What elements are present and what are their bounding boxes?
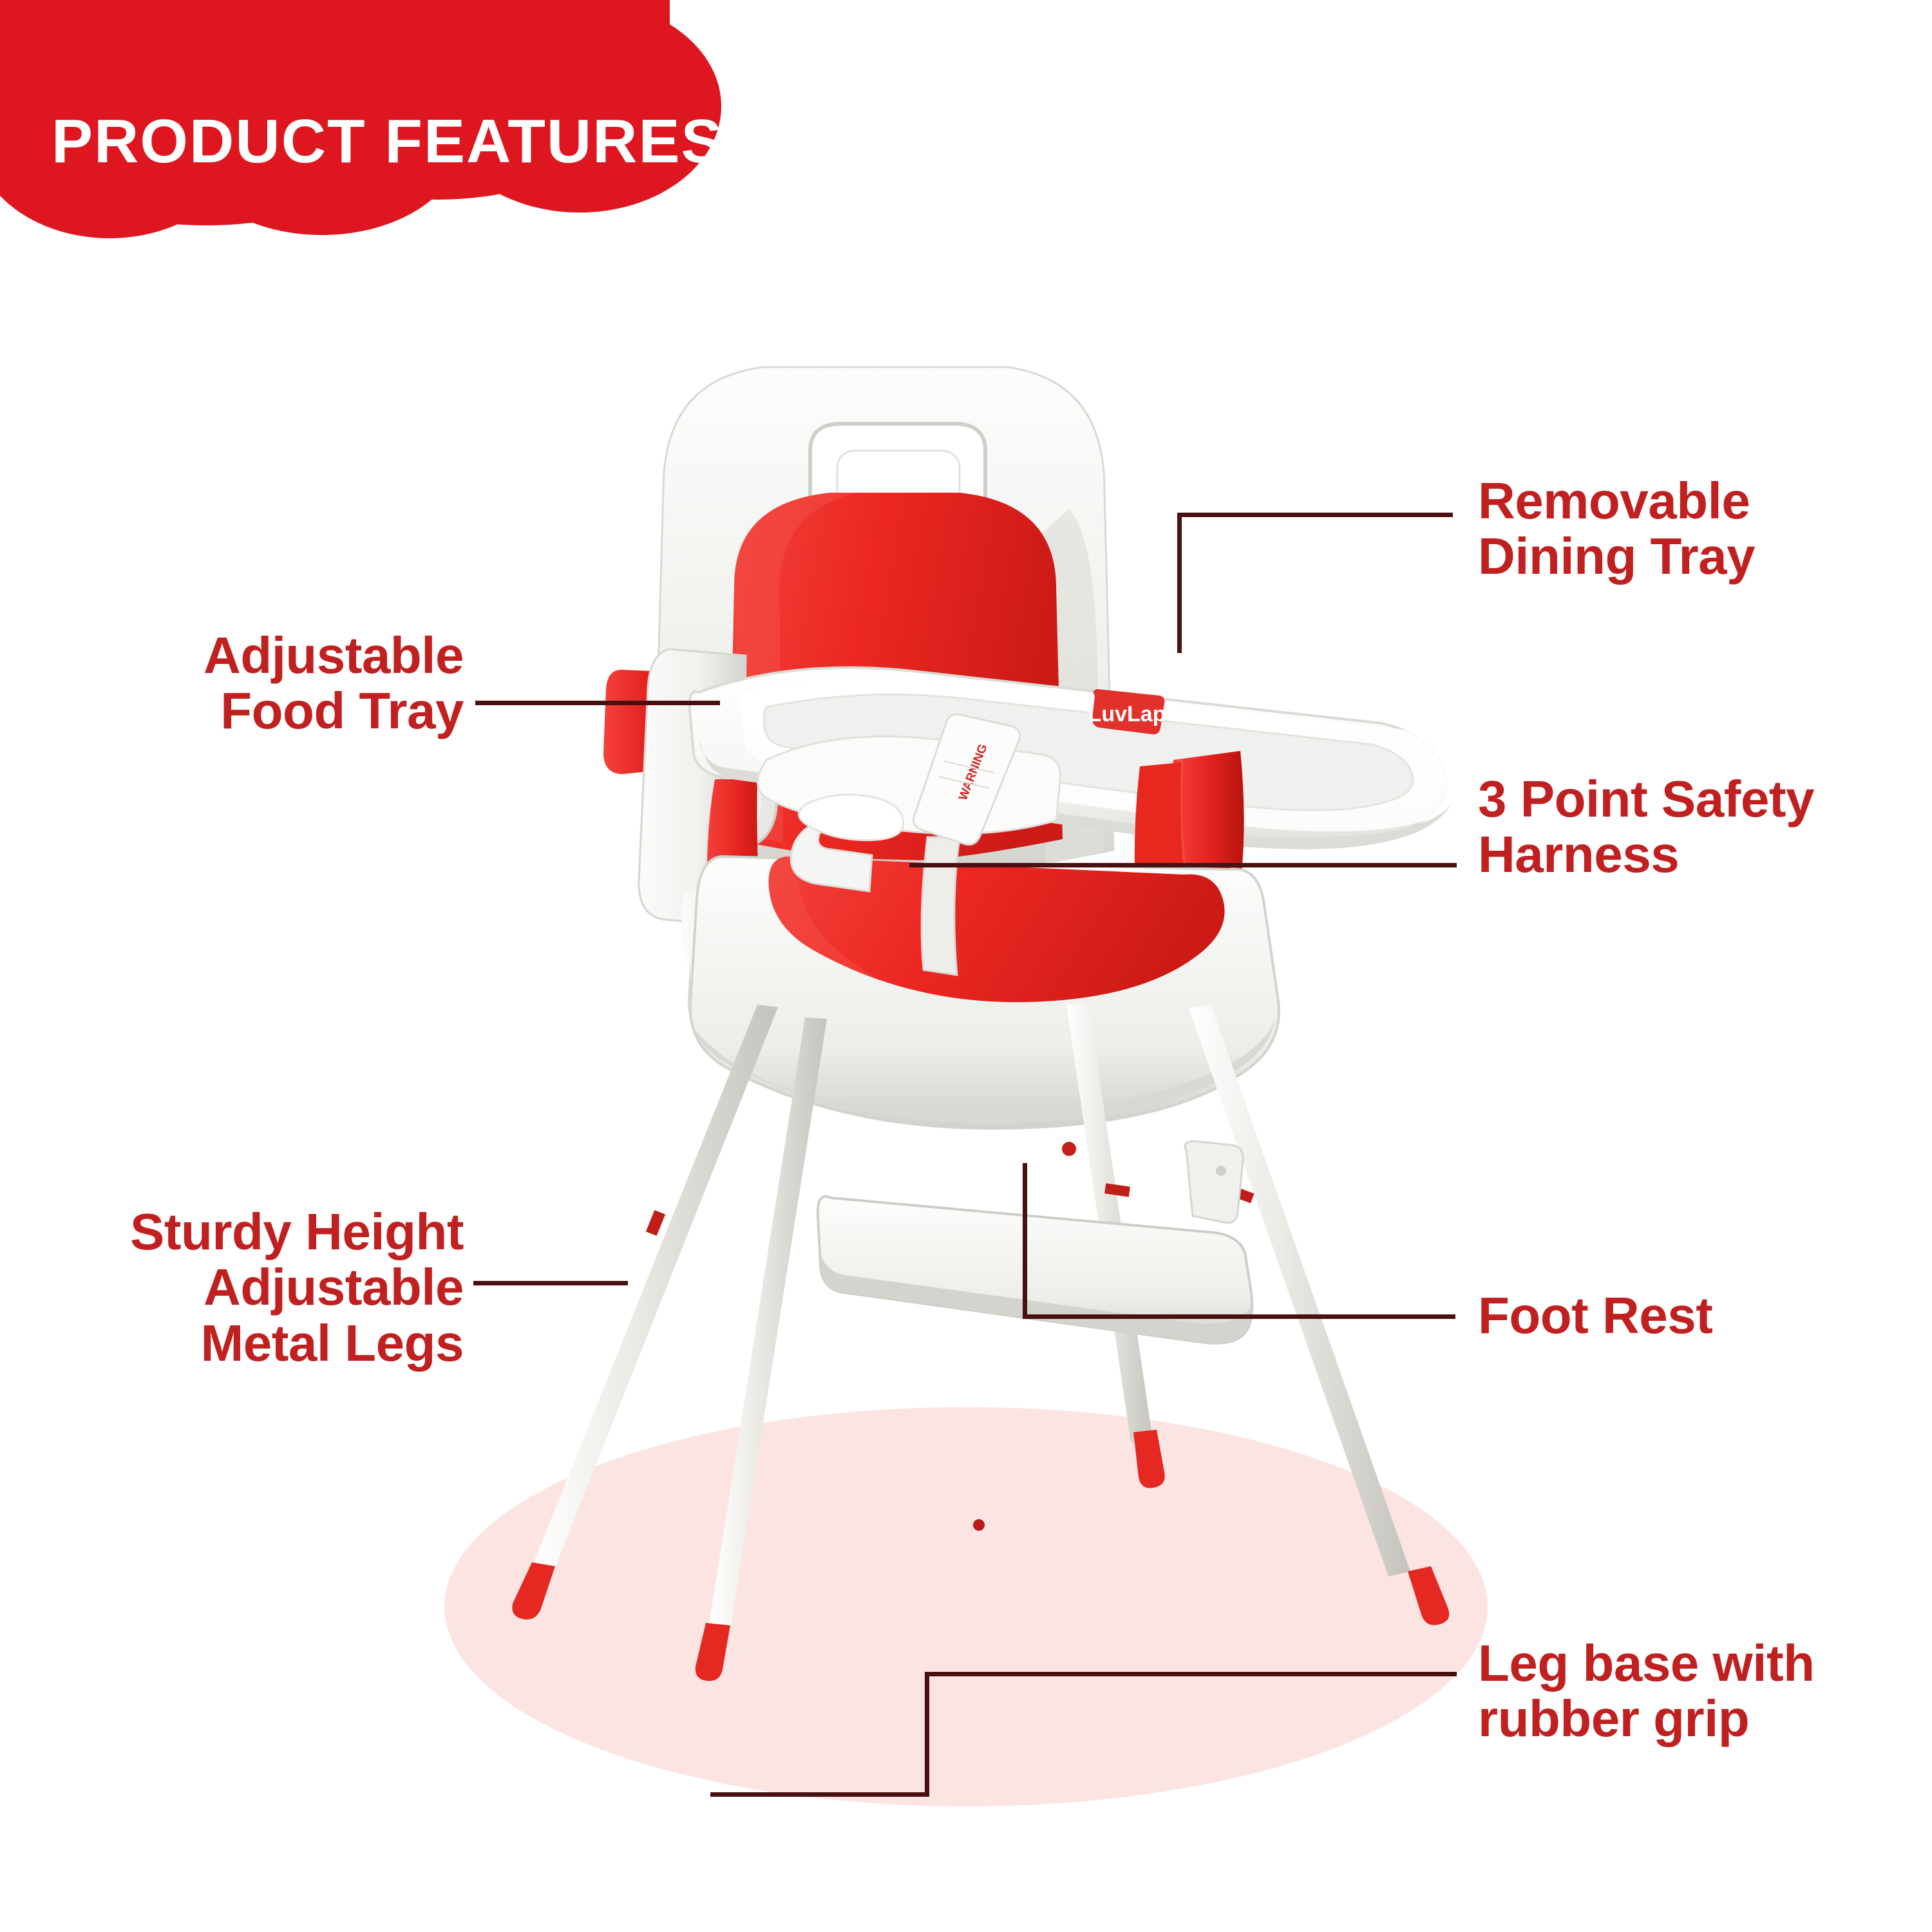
feature-label-sturdy-height-adjustable-metal-legs: Sturdy Height Adjustable Metal Legs xyxy=(52,1204,464,1371)
leader-line-removable-dining-tray xyxy=(1177,513,1453,517)
leader-line-adjustable-food-tray xyxy=(475,701,720,705)
leader-line-removable-dining-tray xyxy=(1177,513,1182,653)
leader-line-foot-rest xyxy=(1023,1314,1455,1319)
leader-line-three-point-safety-harness xyxy=(909,863,1457,867)
page-title: PRODUCT FEATURES xyxy=(52,106,724,177)
brand-badge: LuvLap xyxy=(1088,689,1166,734)
leader-line-leg-base-rubber-grip xyxy=(925,1672,929,1797)
feature-label-adjustable-food-tray: Adjustable Food Tray xyxy=(103,628,464,739)
feature-label-foot-rest: Foot Rest xyxy=(1478,1288,1712,1343)
feature-label-removable-dining-tray: Removable Dining Tray xyxy=(1478,473,1755,585)
feature-label-three-point-safety-harness: 3 Point Safety Harness xyxy=(1478,772,1814,883)
feature-label-leg-base-rubber-grip: Leg base with rubber grip xyxy=(1478,1636,1814,1747)
leader-line-leg-base-rubber-grip xyxy=(925,1672,1457,1676)
leader-line-sturdy-height-adjustable-metal-legs xyxy=(473,1281,628,1285)
svg-text:LuvLap: LuvLap xyxy=(1088,702,1166,726)
leader-line-leg-base-rubber-grip xyxy=(710,1792,929,1797)
leader-line-foot-rest xyxy=(1023,1163,1027,1319)
